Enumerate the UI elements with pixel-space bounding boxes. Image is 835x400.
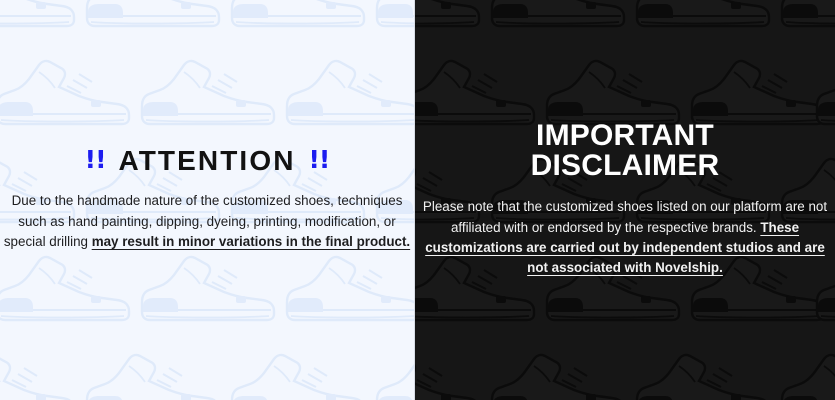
- attention-body: Due to the handmade nature of the custom…: [0, 191, 414, 253]
- disclaimer-banner: !! ATTENTION !! Due to the handmade natu…: [0, 0, 835, 400]
- attention-title: ATTENTION: [118, 147, 295, 175]
- disclaimer-body: Please note that the customized shoes li…: [415, 197, 835, 279]
- exclamation-left-icon: !!: [85, 147, 106, 172]
- exclamation-right-icon: !!: [309, 147, 330, 172]
- attention-heading: !! ATTENTION !!: [0, 147, 414, 175]
- disclaimer-panel: IMPORTANT DISCLAIMER Please note that th…: [415, 0, 835, 400]
- attention-panel: !! ATTENTION !! Due to the handmade natu…: [0, 0, 415, 400]
- disclaimer-title-line-2: DISCLAIMER: [415, 151, 835, 181]
- attention-body-emphasis: may result in minor variations in the fi…: [92, 234, 410, 249]
- disclaimer-title-line-1: IMPORTANT: [415, 121, 835, 151]
- disclaimer-title: IMPORTANT DISCLAIMER: [415, 121, 835, 181]
